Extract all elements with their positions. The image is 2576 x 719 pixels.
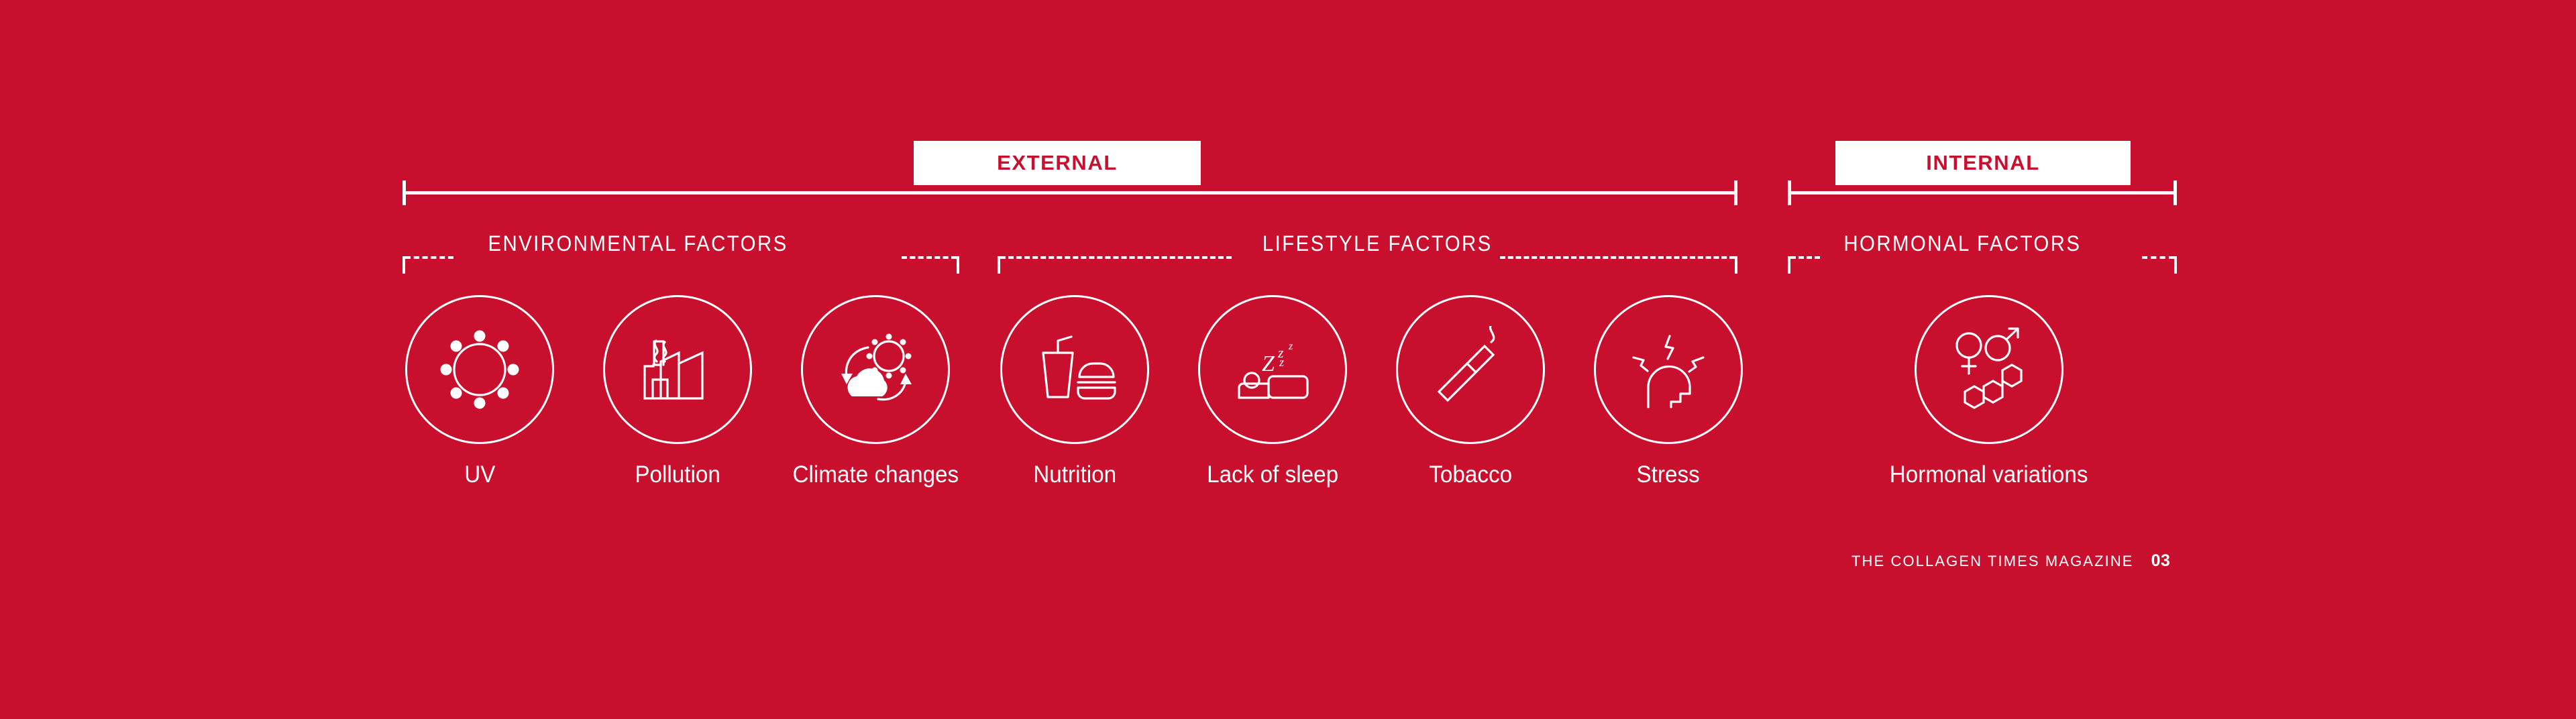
climate-cycle-icon [830, 324, 921, 415]
factor-label: Pollution [635, 461, 720, 488]
group-label-environmental: ENVIRONMENTAL FACTORS [488, 231, 788, 256]
factor-icon-circle [1000, 295, 1149, 444]
group-header-environmental: ENVIRONMENTAL FACTORS [402, 231, 959, 272]
infographic-canvas: EXTERNAL INTERNAL ENVIRONMENTAL FACTORS … [0, 0, 2576, 719]
factor-item-climate-changes[interactable]: Climate changes [798, 295, 953, 488]
factor-item-uv[interactable]: UV [402, 295, 557, 488]
bracket-external [402, 191, 1737, 195]
page-number: 03 [2151, 551, 2171, 571]
factor-icon-circle [801, 295, 950, 444]
factor-label: Nutrition [1033, 461, 1116, 488]
category-chip-internal: INTERNAL [1835, 141, 2131, 185]
dash-tick-right [1735, 256, 1737, 274]
dash-line-left [405, 256, 453, 259]
group-label-lifestyle: LIFESTYLE FACTORS [1263, 231, 1493, 256]
factor-item-lack-of-sleep[interactable]: Z z z z Lack of sleep [1195, 295, 1350, 488]
dash-tick-right [957, 256, 959, 274]
factor-icon-circle [1396, 295, 1545, 444]
factor-icon-circle [405, 295, 554, 444]
factor-label: UV [464, 461, 495, 488]
factor-label: Hormonal variations [1890, 461, 2088, 488]
fast-food-icon [1031, 326, 1118, 413]
bracket-internal [1788, 191, 2177, 195]
category-chip-external: EXTERNAL [914, 141, 1201, 185]
magazine-name: THE COLLAGEN TIMES MAGAZINE [1851, 553, 2134, 570]
factor-item-tobacco[interactable]: Tobacco [1393, 295, 1548, 488]
factor-item-nutrition[interactable]: Nutrition [998, 295, 1152, 488]
factor-label: Climate changes [792, 461, 959, 488]
factor-icon-circle [1915, 295, 2063, 444]
bed-sleep-icon: Z z z z [1227, 324, 1318, 415]
dash-line-right [1500, 256, 1735, 259]
svg-text:z: z [1288, 341, 1293, 352]
factor-label: Tobacco [1429, 461, 1512, 488]
factor-item-pollution[interactable]: Pollution [600, 295, 755, 488]
dash-line-left [1000, 256, 1232, 259]
svg-text:Z: Z [1262, 351, 1275, 376]
dash-tick-right [2174, 256, 2177, 274]
dash-line-right [2142, 256, 2174, 259]
cigarette-icon [1427, 326, 1514, 413]
factor-icon-circle [603, 295, 752, 444]
factor-item-hormonal-variations[interactable]: Hormonal variations [1912, 295, 2066, 488]
sun-icon [436, 326, 523, 413]
dash-line-right [902, 256, 957, 259]
factor-icon-circle: Z z z z [1198, 295, 1347, 444]
group-label-hormonal: HORMONAL FACTORS [1843, 231, 2081, 256]
factor-label: Lack of sleep [1207, 461, 1338, 488]
dash-line-left [1790, 256, 1820, 259]
gender-molecule-icon [1942, 323, 2036, 417]
svg-text:z: z [1279, 355, 1284, 369]
factor-label: Stress [1637, 461, 1700, 488]
group-header-lifestyle: LIFESTYLE FACTORS [998, 231, 1737, 272]
factory-icon [634, 326, 721, 413]
factor-icon-circle [1594, 295, 1743, 444]
head-lightning-icon [1623, 324, 1714, 415]
footer: THE COLLAGEN TIMES MAGAZINE 03 [1851, 551, 2170, 571]
group-header-hormonal: HORMONAL FACTORS [1788, 231, 2177, 272]
factor-item-stress[interactable]: Stress [1591, 295, 1746, 488]
